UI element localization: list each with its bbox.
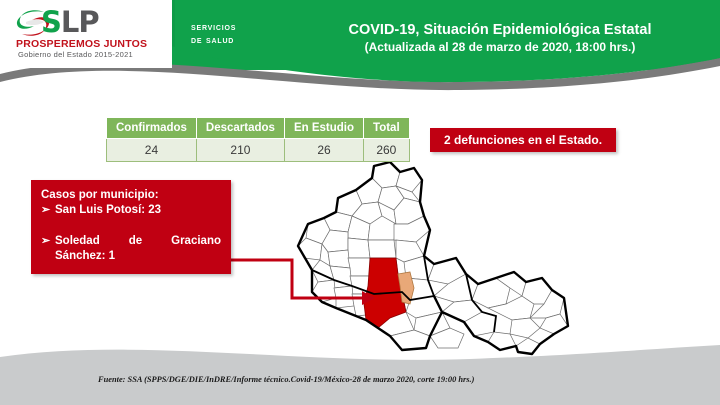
- source-note: Fuente: SSA (SPPS/DGE/DIE/InDRE/Informe …: [98, 375, 474, 384]
- value-en-estudio: 26: [284, 139, 363, 162]
- table-header-row: Confirmados Descartados En Estudio Total: [107, 118, 410, 139]
- footer-wave-band: [0, 335, 720, 405]
- org-name: Servicios de Salud: [191, 21, 236, 47]
- org-name-line1: Servicios: [191, 21, 236, 34]
- municipio-label-2-line2: Sánchez: 1: [55, 249, 221, 264]
- page-title-block: COVID-19, Situación Epidemiológica Estat…: [280, 21, 720, 55]
- municipios-callout: Casos por municipio: ➢ San Luis Potosí: …: [31, 180, 231, 274]
- page-subtitle: (Actualizada al 28 de marzo de 2020, 18:…: [280, 39, 720, 55]
- logo-tagline: PROSPEREMOS JUNTOS: [16, 38, 147, 50]
- slide-root: SLP PROSPEREMOS JUNTOS Gobierno del Esta…: [0, 0, 720, 405]
- municipio-label-2-line1: Soledad de Graciano: [55, 234, 221, 249]
- logo-wordmark-lp: LP: [61, 5, 99, 39]
- table-row: 24 210 26 260: [107, 139, 410, 162]
- bullet-arrow-icon: ➢: [41, 203, 50, 218]
- municipios-title: Casos por municipio:: [41, 188, 221, 203]
- page-title: COVID-19, Situación Epidemiológica Estat…: [280, 21, 720, 39]
- value-confirmados: 24: [107, 139, 197, 162]
- municipio-item-san-luis-potosi: ➢ San Luis Potosí: 23: [41, 203, 221, 218]
- logo-wordmark-s: S: [41, 5, 61, 39]
- value-descartados: 210: [196, 139, 284, 162]
- bullet-arrow-icon: ➢: [41, 234, 50, 249]
- municipio-label-1: San Luis Potosí: 23: [55, 204, 161, 216]
- column-header-descartados: Descartados: [196, 118, 284, 139]
- slp-logo: SLP PROSPEREMOS JUNTOS Gobierno del Esta…: [14, 6, 164, 62]
- column-header-confirmados: Confirmados: [107, 118, 197, 139]
- value-total: 260: [364, 139, 410, 162]
- municipio-item-soledad-de-graciano-sanchez: ➢ Soledad de Graciano Sánchez: 1: [41, 234, 221, 264]
- deaths-callout: 2 defunciones en el Estado.: [430, 128, 616, 152]
- column-header-total: Total: [364, 118, 410, 139]
- column-header-en-estudio: En Estudio: [284, 118, 363, 139]
- stats-table: Confirmados Descartados En Estudio Total…: [106, 117, 410, 162]
- org-name-line2: de Salud: [191, 34, 236, 47]
- logo-subtitle: Gobierno del Estado 2015-2021: [18, 50, 133, 59]
- logo-wordmark: SLP: [41, 6, 99, 38]
